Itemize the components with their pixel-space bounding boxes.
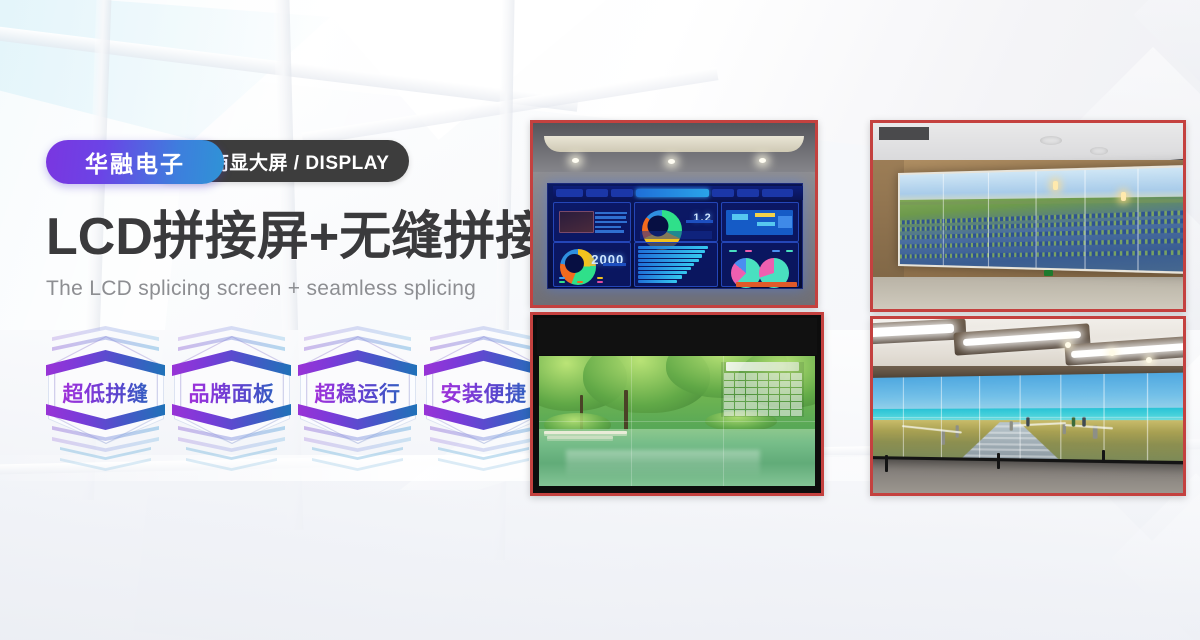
bg-white-wedge-1: [300, 0, 630, 140]
solar-farm-screen-content: [898, 165, 1183, 275]
feature-badge-0: 超低拼缝: [46, 330, 165, 450]
copy-block: 商显大屏 / DISPLAY 华融电子 LCD拼接屏+无缝拼接 The LCD …: [46, 140, 566, 301]
feature-badge-3: 安装便捷: [424, 330, 543, 450]
bg-mullion-h1: [0, 22, 579, 111]
calendar-overlay: [721, 362, 804, 417]
brand-pill-row: 商显大屏 / DISPLAY 华融电子: [46, 140, 566, 184]
willow-lake-screen-content: [539, 356, 815, 486]
promo-banner: 商显大屏 / DISPLAY 华融电子 LCD拼接屏+无缝拼接 The LCD …: [0, 0, 1200, 640]
bg-diamond-4: [1111, 473, 1200, 640]
chevron-up-icon: [172, 350, 291, 376]
dashboard-screen-content: 1.2 2000: [547, 183, 803, 289]
chevron-blue-2-icon: [438, 458, 529, 471]
beach-boardwalk-screen-content: [873, 373, 1183, 465]
brand-label: 华融电子: [85, 145, 185, 179]
chevron-blue-2-icon: [60, 458, 151, 471]
chevron-echo-top-icon: [52, 336, 159, 351]
photo-grid: 1.2 2000: [530, 120, 1186, 490]
category-label: 商显大屏 / DISPLAY: [210, 148, 389, 175]
chevron-echo-top-icon: [178, 336, 285, 351]
feature-label-1: 品牌面板: [172, 378, 291, 408]
chevron-up-icon: [298, 350, 417, 376]
photo-image: [533, 315, 821, 493]
bg-diamond-5: [1133, 0, 1200, 93]
page-subtitle: The LCD splicing screen + seamless splic…: [46, 277, 566, 301]
brand-pill: 华融电子: [46, 140, 224, 184]
feature-label-3: 安装便捷: [424, 378, 543, 408]
chevron-up-icon: [46, 350, 165, 376]
photo-image: [873, 319, 1183, 493]
photo-beach-boardwalk-video-wall: [870, 316, 1186, 496]
chevron-blue-2-icon: [186, 458, 277, 471]
feature-badge-list: 超低拼缝 品牌面板 超稳运行: [46, 330, 543, 450]
photo-data-dashboard-video-wall: 1.2 2000: [530, 120, 818, 308]
photo-willow-lake-video-wall: [530, 312, 824, 496]
photo-solar-farm-video-wall: [870, 120, 1186, 312]
chevron-blue-2-icon: [312, 458, 403, 471]
chevron-echo-top-icon: [430, 336, 537, 351]
chevron-up-icon: [424, 350, 543, 376]
feature-badge-2: 超稳运行: [298, 330, 417, 450]
feature-badge-1: 品牌面板: [172, 330, 291, 450]
photo-image: 1.2 2000: [533, 123, 815, 305]
bg-cyan-wedge: [0, 0, 330, 140]
page-title: LCD拼接屏+无缝拼接: [46, 210, 566, 265]
photo-image: [873, 123, 1183, 309]
feature-label-2: 超稳运行: [298, 378, 417, 408]
chevron-echo-top-icon: [304, 336, 411, 351]
feature-label-0: 超低拼缝: [46, 378, 165, 408]
